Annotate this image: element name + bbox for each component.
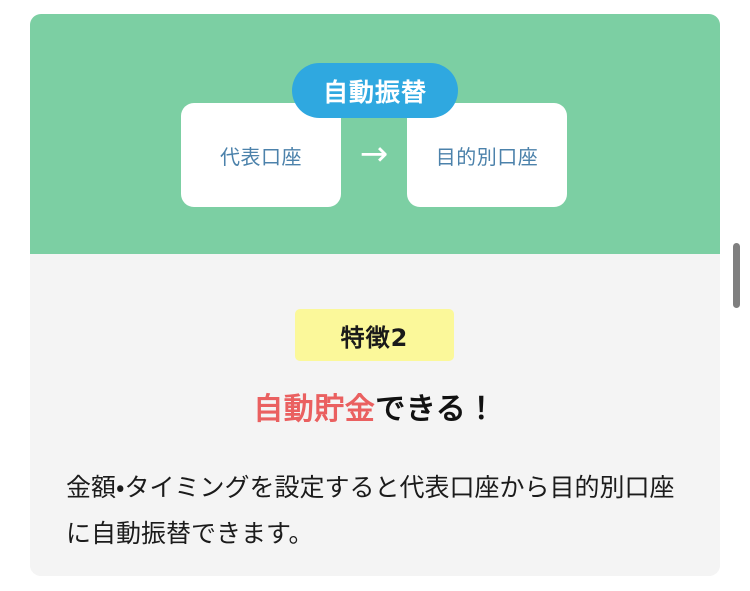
feature-description: 金額・タイミングを設定すると代表口座から目的別口座に自動振替できます。 bbox=[66, 465, 694, 557]
headline-plain-text: できる！ bbox=[375, 392, 496, 427]
source-account-box: 代表口座 bbox=[181, 103, 341, 207]
auto-transfer-diagram: 代表口座 → 目的別口座 自動振替 bbox=[30, 14, 720, 254]
auto-transfer-badge: 自動振替 bbox=[292, 63, 458, 118]
source-account-label: 代表口座 bbox=[220, 141, 302, 170]
body-section: 特徴2 自動貯金できる！ 金額・タイミングを設定すると代表口座から目的別口座に自… bbox=[30, 254, 720, 576]
target-account-box: 目的別口座 bbox=[407, 103, 567, 207]
headline-accent-text: 自動貯金 bbox=[253, 392, 375, 427]
auto-transfer-badge-label: 自動振替 bbox=[323, 73, 427, 109]
scrollbar-thumb[interactable] bbox=[733, 243, 740, 308]
feature-card: 代表口座 → 目的別口座 自動振替 特徴2 自動貯金できる！ bbox=[30, 14, 720, 576]
feature-headline: 自動貯金できる！ bbox=[30, 384, 720, 428]
page-viewport: 代表口座 → 目的別口座 自動振替 特徴2 自動貯金できる！ bbox=[0, 0, 750, 591]
transfer-arrow: → bbox=[341, 103, 407, 207]
feature-number-badge-label: 特徴2 bbox=[341, 318, 409, 353]
hero-section: 代表口座 → 目的別口座 自動振替 bbox=[30, 14, 720, 254]
arrow-right-icon: → bbox=[360, 137, 389, 171]
feature-number-badge: 特徴2 bbox=[295, 309, 454, 361]
target-account-label: 目的別口座 bbox=[436, 141, 539, 170]
